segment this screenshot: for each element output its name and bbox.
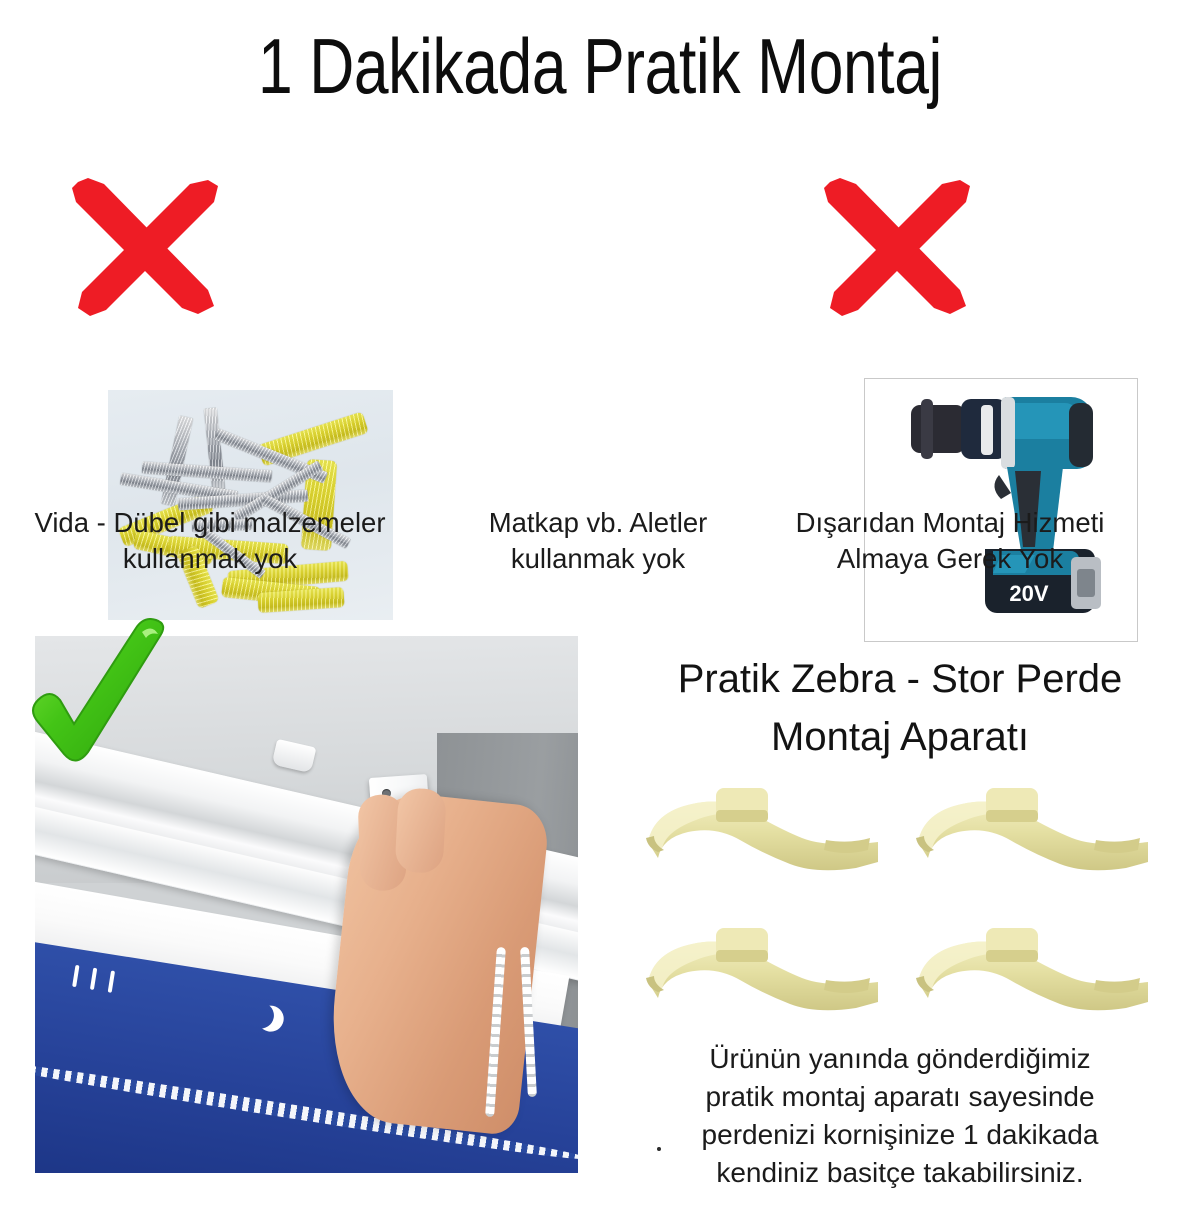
- mounting-clip: [908, 768, 1158, 878]
- mounting-clip-grid: [608, 768, 1192, 1018]
- product-heading-line-2: Montaj Aparatı: [600, 708, 1200, 766]
- avoid-item-caption: Dışarıdan Montaj Hizmeti Almaya Gerek Yo…: [770, 505, 1130, 577]
- product-heading: Pratik Zebra - Stor Perde Montaj Aparatı: [600, 650, 1200, 766]
- avoid-item-caption: Matkap vb. Aletler kullanmak yok: [418, 505, 778, 577]
- mounting-clip: [638, 768, 888, 878]
- crescent-motif: [247, 1000, 277, 1030]
- product-description: Ürünün yanında gönderdiğimiz pratik mont…: [620, 1040, 1180, 1192]
- page-title: 1 Dakikada Pratik Montaj: [120, 26, 1080, 108]
- avoid-item-handyman: Dışarıdan Montaj Hizmeti Almaya Gerek Yo…: [770, 160, 1130, 585]
- red-x-icon: [58, 172, 228, 322]
- green-check-icon: [22, 618, 172, 768]
- caption-line-1: Dışarıdan Montaj Hizmeti: [770, 505, 1130, 541]
- caption-line-2: kullanmak yok: [418, 541, 778, 577]
- caption-line-1: Vida - Dübel gibi malzemeler: [30, 505, 390, 541]
- product-heading-line-1: Pratik Zebra - Stor Perde: [600, 650, 1200, 708]
- avoid-item-caption: Vida - Dübel gibi malzemeler kullanmak y…: [30, 505, 390, 577]
- caption-line-2: Almaya Gerek Yok: [770, 541, 1130, 577]
- fabric-hook-marks: [68, 964, 127, 998]
- description-line-1: Ürünün yanında gönderdiğimiz: [620, 1040, 1180, 1078]
- description-line-2: pratik montaj aparatı sayesinde: [620, 1078, 1180, 1116]
- description-line-3: perdenizi kornişinize 1 dakikada: [620, 1116, 1180, 1154]
- avoid-section: Vida - Dübel gibi malzemeler kullanmak y…: [0, 160, 1200, 585]
- avoid-item-screws: Vida - Dübel gibi malzemeler kullanmak y…: [30, 160, 390, 585]
- caption-line-2: kullanmak yok: [30, 541, 390, 577]
- installer-hand: [322, 788, 550, 1137]
- avoid-item-drill: 20V Matkap vb. Aletler kullanmak yok: [418, 160, 778, 585]
- description-line-4: kendiniz basitçe takabilirsiniz.: [620, 1154, 1180, 1192]
- stray-punctuation-dot: [657, 1147, 661, 1151]
- mounting-clip: [908, 908, 1158, 1018]
- mounting-clip: [638, 908, 888, 1018]
- caption-line-1: Matkap vb. Aletler: [418, 505, 778, 541]
- finger: [395, 788, 447, 874]
